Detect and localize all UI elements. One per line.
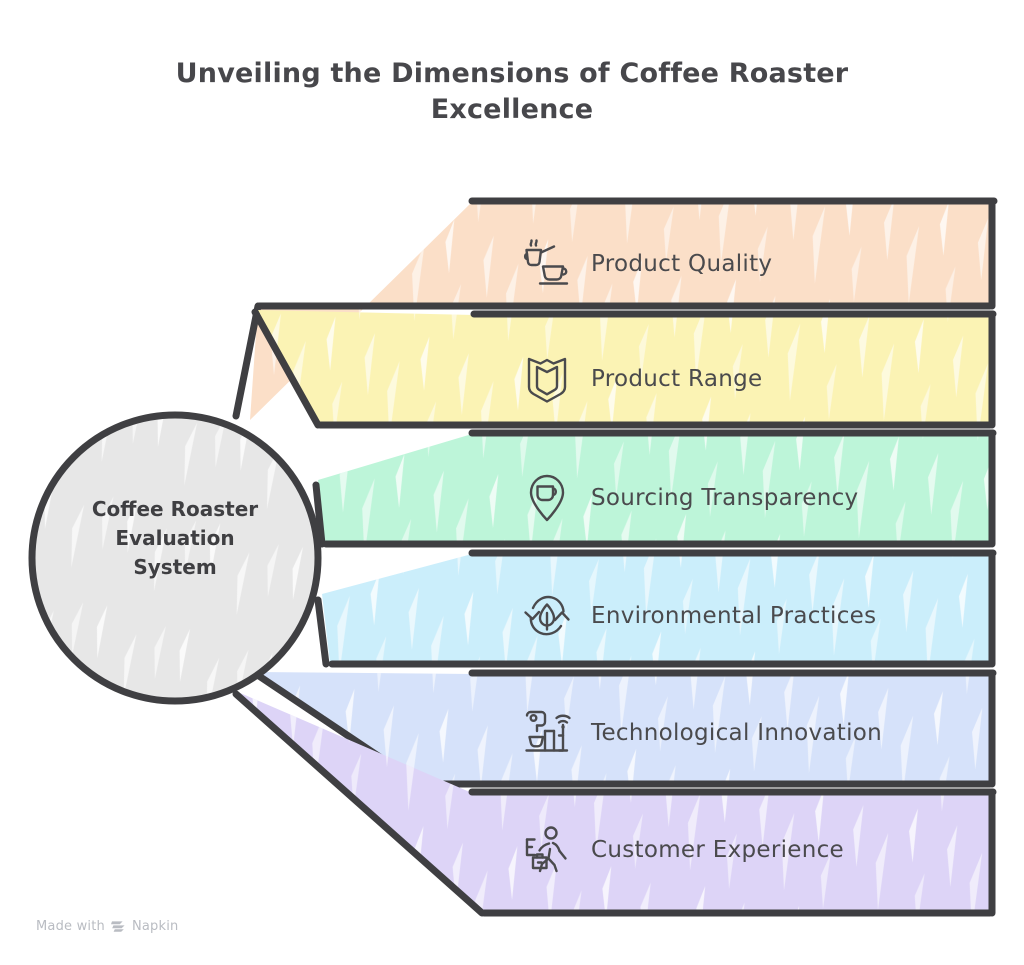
band-product-range[interactable] xyxy=(255,310,993,425)
footer-brand: Napkin xyxy=(132,919,179,934)
center-node-circle[interactable] xyxy=(32,415,318,701)
footer-prefix: Made with xyxy=(36,919,105,934)
napkin-logo-icon xyxy=(111,920,126,933)
band-sourcing-transparency[interactable] xyxy=(316,433,993,544)
footer-credit: Made with Napkin xyxy=(36,919,178,934)
band-environmental-practices[interactable] xyxy=(318,553,993,664)
diagram-canvas xyxy=(0,0,1024,965)
